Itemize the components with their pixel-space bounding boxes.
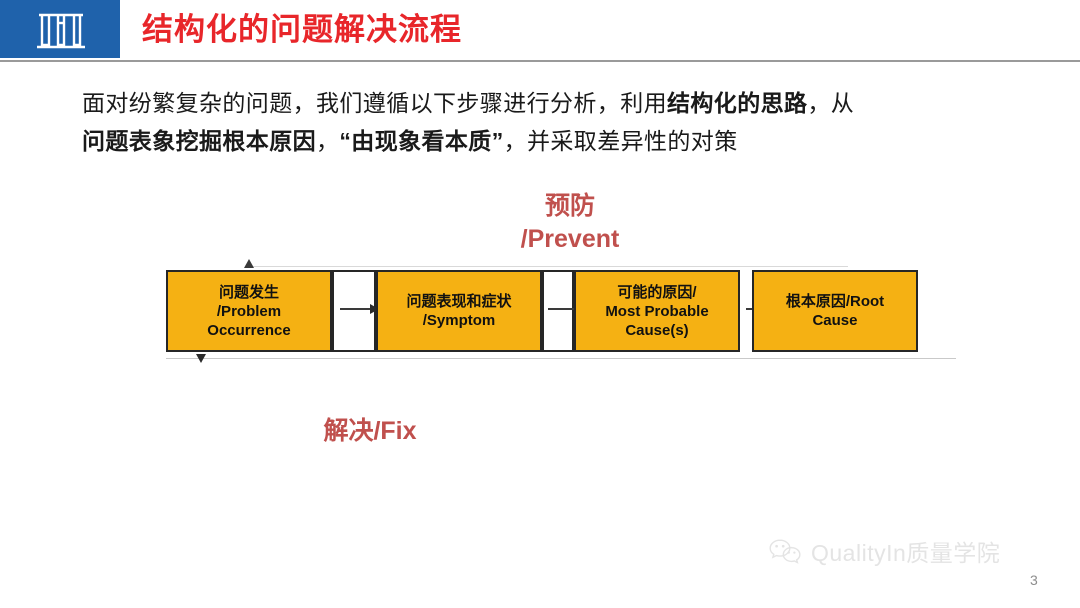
- page-title: 结构化的问题解决流程: [142, 8, 462, 52]
- page-number: 3: [1030, 572, 1038, 588]
- flow-step-most-probable-cause[interactable]: 可能的原因/ Most Probable Cause(s): [574, 270, 740, 352]
- page-header: 结构化的问题解决流程: [0, 0, 1080, 62]
- flow-step-4-cn: 根本原因/Root: [786, 292, 884, 311]
- flow-step-3-cn: 可能的原因/: [605, 283, 708, 302]
- label-prevent-cn: 预防: [440, 190, 700, 223]
- intro-line1-bold: 结构化的思路: [667, 90, 807, 116]
- watermark-text: QualityIn质量学院: [811, 534, 1000, 568]
- intro-line2-bold1: 问题表象挖掘根本原因: [82, 128, 316, 154]
- flow-step-1-en1: /Problem: [207, 302, 290, 321]
- gate-building-logo-icon: [36, 9, 86, 51]
- flow-step-3-en2: Cause(s): [605, 321, 708, 340]
- flow-step-root-cause[interactable]: 根本原因/Root Cause: [752, 270, 918, 352]
- intro-paragraph: 面对纷繁复杂的问题，我们遵循以下步骤进行分析，利用结构化的思路，从 问题表象挖掘…: [82, 84, 1012, 160]
- flow-step-4-en1: Cause: [786, 311, 884, 330]
- feedback-loop-bottom-line: [166, 358, 956, 359]
- process-flow-diagram: 问题发生 /Problem Occurrence 问题表现和症状 /Sympto…: [162, 262, 962, 372]
- header-divider: [0, 60, 1080, 62]
- logo-block: [0, 0, 120, 58]
- intro-line1-part2: ，从: [807, 90, 854, 116]
- flow-connector-box-2: [542, 270, 574, 352]
- flow-step-2-en1: /Symptom: [406, 311, 511, 330]
- flow-step-problem-occurrence[interactable]: 问题发生 /Problem Occurrence: [166, 270, 332, 352]
- label-fix: 解决/Fix: [240, 415, 500, 448]
- intro-line2-part1: ，: [316, 128, 339, 154]
- flow-step-1-cn: 问题发生: [207, 283, 290, 302]
- flow-step-2-cn: 问题表现和症状: [406, 292, 511, 311]
- flow-step-1-en2: Occurrence: [207, 321, 290, 340]
- intro-line2-bold2: “由现象看本质”: [339, 128, 503, 154]
- label-prevent-en: /Prevent: [440, 223, 700, 256]
- label-prevent: 预防 /Prevent: [440, 190, 700, 256]
- feedback-loop-bottom-arrowhead-icon: [196, 354, 206, 363]
- flow-step-symptom[interactable]: 问题表现和症状 /Symptom: [376, 270, 542, 352]
- watermark: QualityIn质量学院: [768, 534, 1000, 568]
- intro-line2-part2: ，并采取差异性的对策: [504, 128, 738, 154]
- flow-arrow-1-icon: [340, 308, 378, 310]
- feedback-loop-top-arrowhead-icon: [244, 259, 254, 268]
- intro-line1-part1: 面对纷繁复杂的问题，我们遵循以下步骤进行分析，利用: [82, 90, 667, 116]
- feedback-loop-top-line: [248, 266, 848, 267]
- flow-step-3-en1: Most Probable: [605, 302, 708, 321]
- wechat-icon: [768, 537, 802, 565]
